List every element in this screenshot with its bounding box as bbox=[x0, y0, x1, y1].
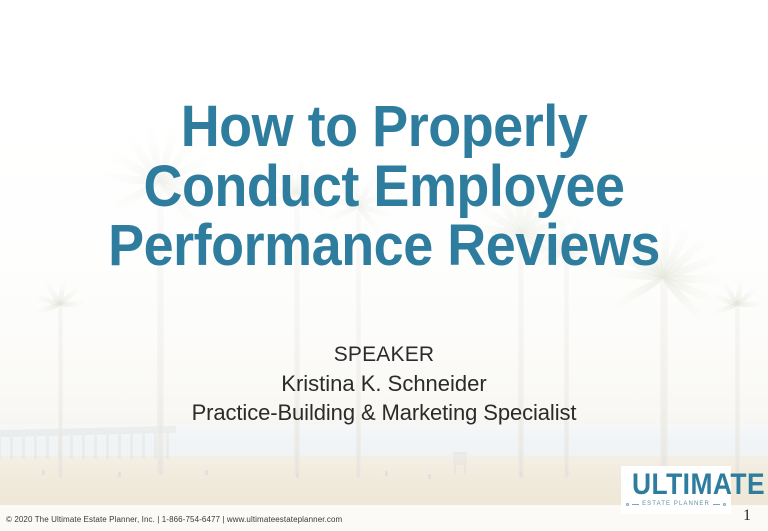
pier-piling bbox=[10, 433, 13, 459]
pier-piling bbox=[94, 433, 97, 459]
presentation-slide: How to Properly Conduct Employee Perform… bbox=[0, 0, 768, 531]
logo-dot-right-icon bbox=[723, 503, 726, 506]
beach-speck bbox=[42, 470, 45, 475]
speaker-name: Kristina K. Schneider bbox=[0, 369, 768, 398]
pier-piling bbox=[142, 433, 145, 459]
logo-rule-right bbox=[713, 504, 720, 505]
speaker-info: SPEAKER Kristina K. Schneider Practice-B… bbox=[0, 341, 768, 427]
title-line-1: How to Properly bbox=[27, 97, 741, 157]
pier-deck bbox=[0, 426, 176, 437]
title-line-3: Performance Reviews bbox=[27, 216, 741, 276]
pier-piling bbox=[82, 433, 85, 459]
beach-speck bbox=[385, 471, 388, 476]
lifeguard-tower-leg bbox=[454, 463, 456, 474]
beach-speck bbox=[118, 472, 121, 477]
logo-wordmark: ULTIMATE bbox=[632, 470, 720, 500]
lifeguard-tower-leg bbox=[464, 463, 466, 474]
logo-dot-left-icon bbox=[626, 503, 629, 506]
footer-copyright: © 2020 The Ultimate Estate Planner, Inc.… bbox=[6, 515, 342, 524]
pier-piling bbox=[34, 433, 37, 459]
slide-title: How to Properly Conduct Employee Perform… bbox=[0, 97, 768, 276]
page-number: 1 bbox=[743, 507, 751, 525]
logo-rule-left bbox=[632, 504, 639, 505]
pier-piling bbox=[130, 433, 133, 459]
pier-piling bbox=[106, 433, 109, 459]
pier-piling bbox=[46, 433, 49, 459]
speaker-role: Practice-Building & Marketing Specialist bbox=[0, 398, 768, 427]
logo-subtitle-row: ESTATE PLANNER bbox=[626, 501, 726, 507]
pier-piling bbox=[118, 433, 121, 459]
title-line-2: Conduct Employee bbox=[27, 157, 741, 217]
ultimate-estate-planner-logo: ULTIMATE ESTATE PLANNER bbox=[621, 466, 731, 514]
logo-subtitle: ESTATE PLANNER bbox=[642, 501, 710, 507]
pier-piling bbox=[0, 433, 1, 459]
pier-graphic bbox=[0, 428, 176, 464]
lifeguard-tower-graphic bbox=[452, 452, 468, 474]
speaker-label: SPEAKER bbox=[0, 341, 768, 369]
pier-piling bbox=[22, 433, 25, 459]
beach-speck bbox=[205, 470, 208, 475]
beach-speck bbox=[428, 474, 431, 479]
pier-piling bbox=[166, 433, 169, 459]
pier-piling bbox=[70, 433, 73, 459]
